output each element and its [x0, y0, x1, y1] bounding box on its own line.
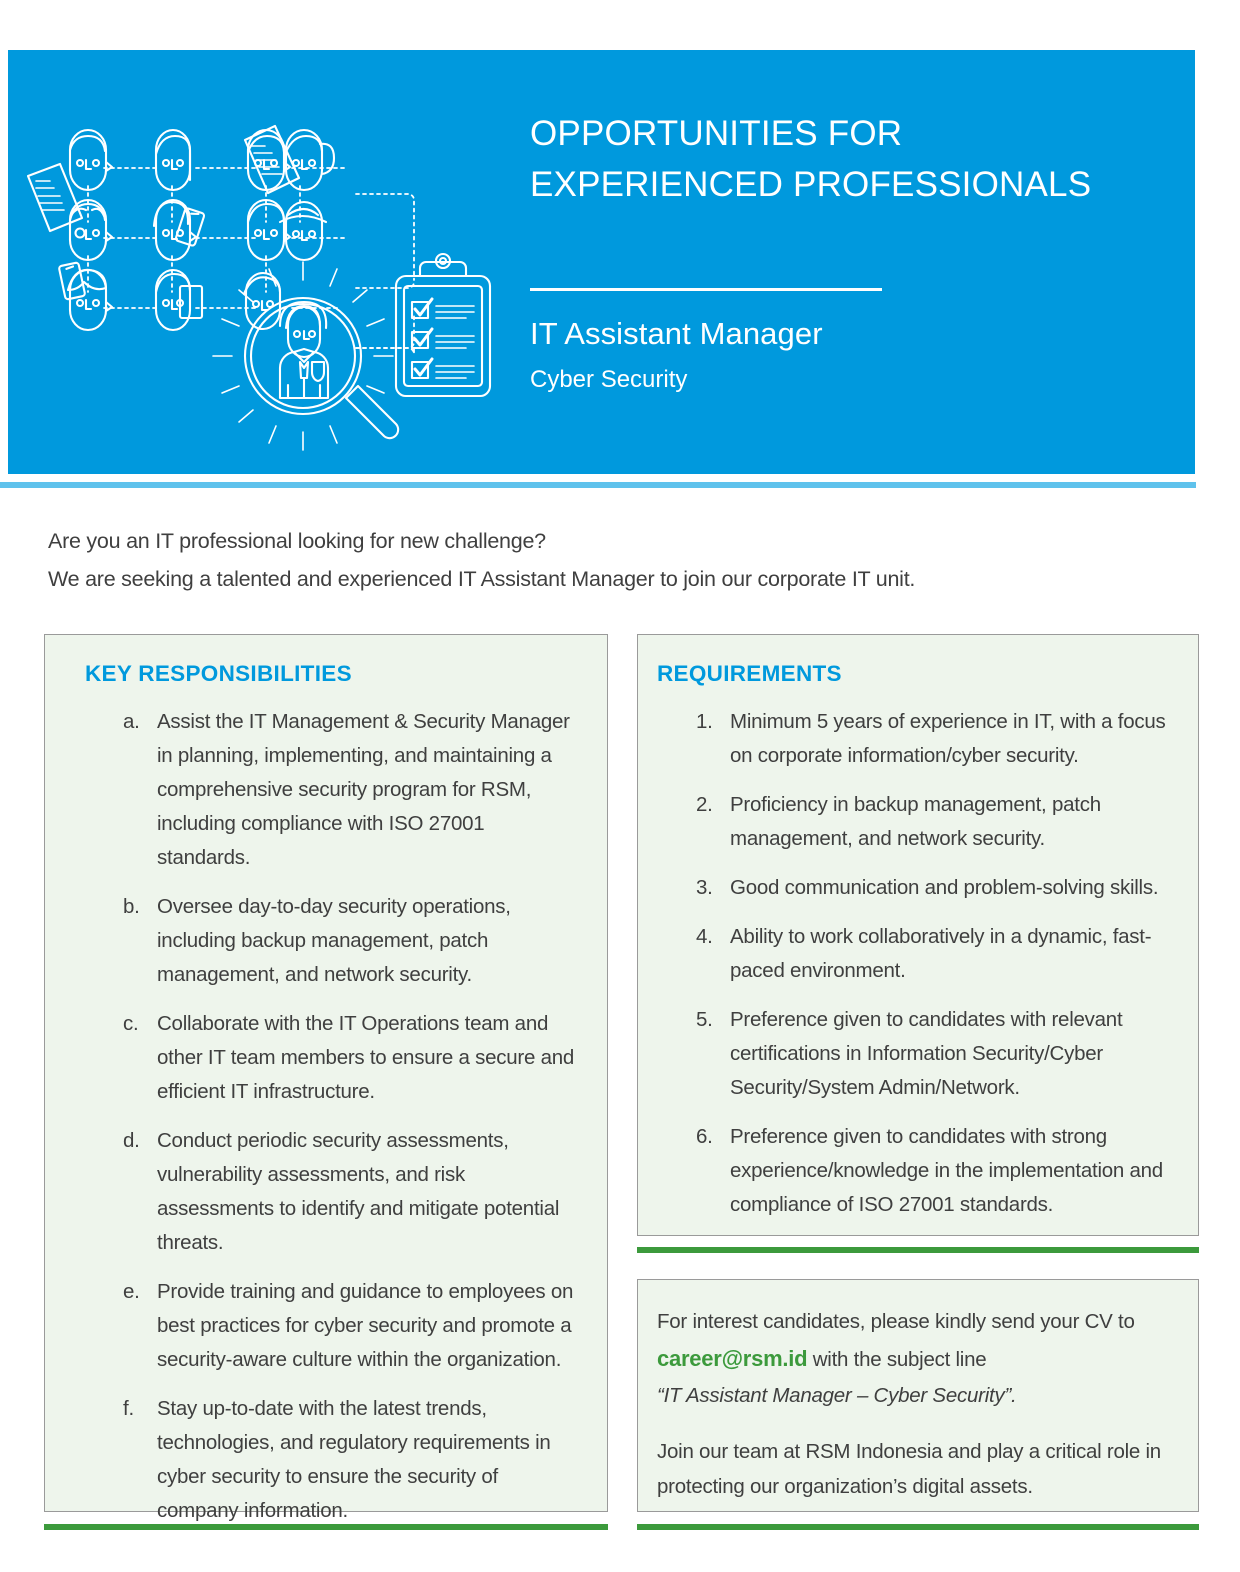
key-responsibilities-card: KEY RESPONSIBILITIES a. Assist the IT Ma…	[44, 634, 608, 1512]
list-text: Conduct periodic security assessments, v…	[157, 1129, 559, 1254]
list-text: Good communication and problem-solving s…	[730, 876, 1158, 899]
cta-join-message: Join our team at RSM Indonesia and play …	[657, 1434, 1179, 1505]
list-item: f. Stay up-to-date with the latest trend…	[45, 1392, 583, 1528]
cta-text-block: For interest candidates, please kindly s…	[657, 1304, 1179, 1505]
application-cta-card: For interest candidates, please kindly s…	[637, 1279, 1199, 1512]
person-node	[68, 270, 112, 330]
list-item: d. Conduct periodic security assessments…	[45, 1124, 583, 1260]
list-text: Collaborate with the IT Operations team …	[157, 1012, 574, 1103]
list-marker: 1.	[696, 705, 713, 739]
job-poster-page: OPPORTUNITIES FOR EXPERIENCED PROFESSION…	[0, 0, 1240, 1572]
header-title-line2: EXPERIENCED PROFESSIONALS	[530, 159, 1170, 210]
list-marker: 6.	[696, 1120, 713, 1154]
header-title-line1: OPPORTUNITIES FOR	[530, 108, 1170, 159]
list-item: 1. Minimum 5 years of experience in IT, …	[638, 705, 1180, 773]
requirements-heading: REQUIREMENTS	[657, 661, 1198, 687]
intro-text: Are you an IT professional looking for n…	[48, 522, 1158, 599]
intro-line-1: Are you an IT professional looking for n…	[48, 522, 1158, 560]
person-node	[248, 200, 290, 260]
requirements-accent-bar	[637, 1247, 1199, 1253]
list-marker: 3.	[696, 871, 713, 905]
cta-mid: with the subject line	[807, 1348, 986, 1371]
cta-instruction: For interest candidates, please kindly s…	[657, 1304, 1179, 1378]
job-role-subtitle: Cyber Security	[530, 366, 687, 394]
list-item: b. Oversee day-to-day security operation…	[45, 890, 583, 992]
list-marker: f.	[123, 1392, 134, 1426]
header-banner: OPPORTUNITIES FOR EXPERIENCED PROFESSION…	[8, 50, 1195, 474]
list-marker: c.	[123, 1007, 138, 1041]
list-marker: 2.	[696, 788, 713, 822]
list-item: 3. Good communication and problem-solvin…	[638, 871, 1180, 905]
header-title-block: OPPORTUNITIES FOR EXPERIENCED PROFESSION…	[530, 108, 1170, 211]
list-text: Proficiency in backup management, patch …	[730, 793, 1101, 850]
header-divider-rule	[530, 288, 882, 291]
list-item: 5. Preference given to candidates with r…	[638, 1003, 1180, 1105]
person-node	[156, 270, 202, 330]
person-node	[70, 130, 112, 190]
cta-email-address[interactable]: career@rsm.id	[657, 1346, 807, 1371]
list-item: 4. Ability to work collaboratively in a …	[638, 920, 1180, 988]
list-text: Preference given to candidates with rele…	[730, 1008, 1122, 1099]
list-marker: b.	[123, 890, 140, 924]
list-item: e. Provide training and guidance to empl…	[45, 1275, 583, 1377]
cta-lead: For interest candidates, please kindly s…	[657, 1310, 1135, 1333]
security-person-icon	[280, 302, 328, 398]
list-item: a. Assist the IT Management & Security M…	[45, 705, 583, 875]
key-responsibilities-heading: KEY RESPONSIBILITIES	[85, 661, 607, 687]
document-icon	[28, 164, 82, 231]
list-marker: e.	[123, 1275, 140, 1309]
list-text: Minimum 5 years of experience in IT, wit…	[730, 710, 1166, 767]
checklist-items	[412, 299, 474, 378]
requirements-card: REQUIREMENTS 1. Minimum 5 years of exper…	[637, 634, 1199, 1236]
requirements-list: 1. Minimum 5 years of experience in IT, …	[638, 705, 1198, 1222]
person-node	[156, 130, 190, 190]
list-marker: 4.	[696, 920, 713, 954]
key-responsibilities-list: a. Assist the IT Management & Security M…	[45, 705, 607, 1528]
list-item: 6. Preference given to candidates with s…	[638, 1120, 1180, 1222]
list-text: Assist the IT Management & Security Mana…	[157, 710, 570, 869]
header-bottom-accent-bar	[0, 482, 1196, 488]
person-node	[280, 202, 326, 260]
person-node-group	[68, 130, 334, 330]
key-responsibilities-accent-bar	[44, 1524, 608, 1530]
list-marker: a.	[123, 705, 140, 739]
intro-line-2: We are seeking a talented and experience…	[48, 560, 1158, 598]
list-item: c. Collaborate with the IT Operations te…	[45, 1007, 583, 1109]
cta-subject-line: “IT Assistant Manager – Cyber Security”.	[657, 1378, 1179, 1414]
job-role-title: IT Assistant Manager	[530, 316, 823, 352]
clipboard-icon	[396, 254, 490, 396]
people-network-magnifier-clipboard-illustration	[8, 50, 518, 474]
magnifier-icon	[213, 262, 398, 450]
list-text: Stay up-to-date with the latest trends, …	[157, 1397, 551, 1522]
list-marker: 5.	[696, 1003, 713, 1037]
list-item: 2. Proficiency in backup management, pat…	[638, 788, 1180, 856]
person-node	[70, 200, 112, 260]
cta-accent-bar	[637, 1524, 1199, 1530]
clipboard-connector	[356, 194, 414, 354]
list-text: Preference given to candidates with stro…	[730, 1125, 1163, 1216]
list-text: Oversee day-to-day security operations, …	[157, 895, 511, 986]
list-marker: d.	[123, 1124, 140, 1158]
list-text: Provide training and guidance to employe…	[157, 1280, 573, 1371]
list-text: Ability to work collaboratively in a dyn…	[730, 925, 1151, 982]
